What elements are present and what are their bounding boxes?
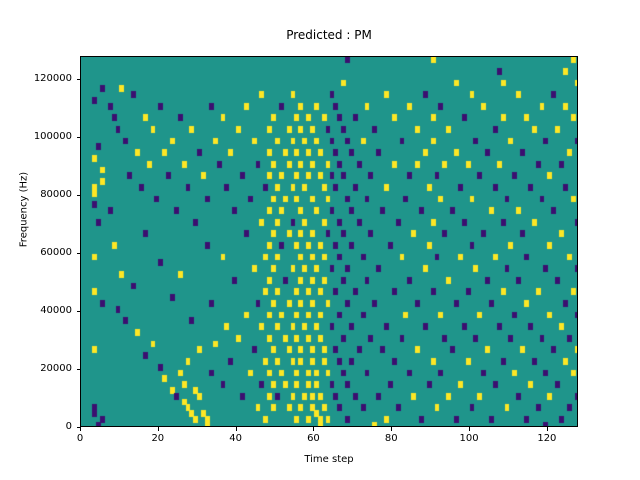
- heatmap-canvas: [81, 57, 578, 427]
- x-tick: [236, 427, 237, 431]
- x-tick: [391, 427, 392, 431]
- x-tick: [158, 427, 159, 431]
- y-ticklabel: 100000: [2, 131, 72, 143]
- y-ticklabel: 40000: [2, 305, 72, 317]
- y-ticklabel: 0: [2, 421, 72, 433]
- y-ticklabel: 20000: [2, 363, 72, 375]
- page-title: Predicted : PM: [80, 27, 578, 43]
- y-tick: [77, 79, 81, 80]
- y-tick: [77, 195, 81, 196]
- x-ticklabel: 80: [361, 433, 421, 445]
- y-tick: [77, 137, 81, 138]
- x-tick: [469, 427, 470, 431]
- y-tick: [77, 253, 81, 254]
- y-axis-label: Frequency (Hz): [18, 130, 31, 290]
- x-tick: [547, 427, 548, 431]
- x-ticklabel: 120: [517, 433, 577, 445]
- y-ticklabel: 60000: [2, 247, 72, 259]
- x-ticklabel: 20: [128, 433, 188, 445]
- y-ticklabel: 120000: [2, 73, 72, 85]
- x-axis-label: Time step: [80, 453, 578, 466]
- y-tick: [77, 369, 81, 370]
- y-ticklabel: 80000: [2, 189, 72, 201]
- x-ticklabel: 60: [283, 433, 343, 445]
- x-ticklabel: 0: [50, 433, 110, 445]
- x-ticklabel: 40: [206, 433, 266, 445]
- x-tick: [80, 427, 81, 431]
- y-tick: [77, 427, 81, 428]
- heatmap-axes: [80, 56, 578, 427]
- matplotlib-figure: Predicted : PM 020406080100120 020000400…: [0, 0, 640, 480]
- x-tick: [313, 427, 314, 431]
- x-ticklabel: 100: [439, 433, 499, 445]
- y-tick: [77, 311, 81, 312]
